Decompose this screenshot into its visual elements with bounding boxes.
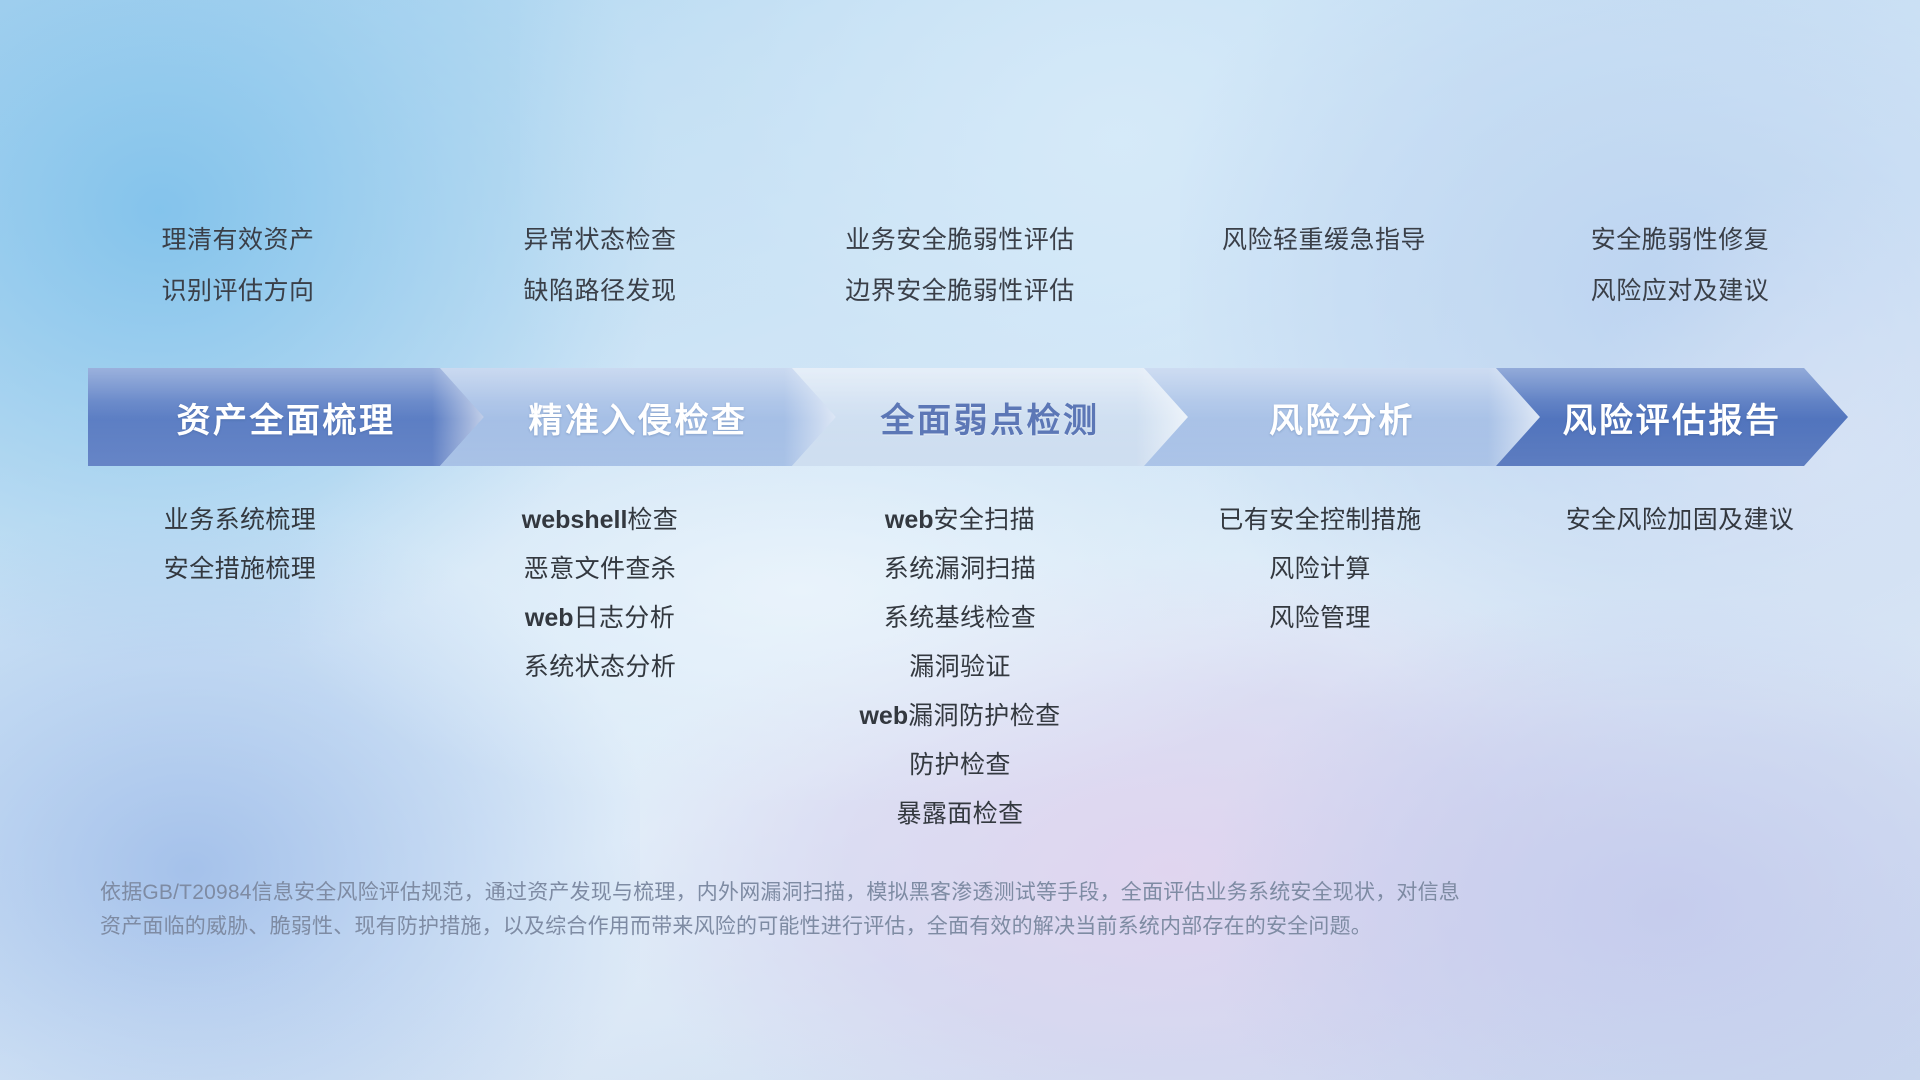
list-item: web日志分析	[525, 606, 675, 631]
stage-detail-lists: 业务系统梳理 安全措施梳理 webshell检查 恶意文件查杀 web日志分析 …	[60, 508, 1860, 851]
footer-line: 资产面临的威胁、脆弱性、现有防护措施，以及综合作用而带来风险的可能性进行评估，全…	[100, 910, 1660, 944]
latin-token: web	[859, 702, 908, 730]
top-note: 缺陷路径发现	[523, 279, 676, 304]
slide-canvas: 理清有效资产 识别评估方向 异常状态检查 缺陷路径发现 业务安全脆弱性评估 边界…	[0, 0, 1920, 1080]
top-notes-weakness-detection: 业务安全脆弱性评估 边界安全脆弱性评估	[780, 228, 1140, 304]
stage-title: 资产全面梳理	[177, 393, 396, 442]
list-item: 安全措施梳理	[164, 557, 316, 582]
top-notes-risk-analysis: 风险轻重缓急指导	[1140, 228, 1500, 304]
stage-title: 精准入侵检查	[529, 393, 748, 442]
detail-list-risk-report: 安全风险加固及建议	[1500, 508, 1860, 557]
top-note: 理清有效资产	[161, 228, 314, 253]
top-note: 风险轻重缓急指导	[1222, 228, 1426, 253]
stage-arrow-asset-inventory[interactable]: 资产全面梳理	[88, 368, 484, 466]
footer-line: 依据GB/T20984信息安全风险评估规范，通过资产发现与梳理，内外网漏洞扫描，…	[100, 876, 1660, 910]
list-item: 防护检查	[909, 753, 1011, 778]
list-item: 恶意文件查杀	[524, 557, 676, 582]
list-item: web漏洞防护检查	[859, 704, 1060, 729]
top-note: 异常状态检查	[523, 228, 676, 253]
top-notes-risk-report: 安全脆弱性修复 风险应对及建议	[1500, 228, 1860, 304]
footer-description: 依据GB/T20984信息安全风险评估规范，通过资产发现与梳理，内外网漏洞扫描，…	[100, 876, 1660, 944]
list-item: 系统漏洞扫描	[884, 557, 1036, 582]
top-notes-asset-inventory: 理清有效资产 识别评估方向	[60, 228, 420, 304]
list-item: 安全风险加固及建议	[1566, 508, 1795, 533]
stage-arrow-intrusion-check[interactable]: 精准入侵检查	[440, 368, 836, 466]
top-note: 风险应对及建议	[1591, 279, 1770, 304]
stage-arrow-weakness-detection[interactable]: 全面弱点检测	[792, 368, 1188, 466]
detail-list-risk-analysis: 已有安全控制措施 风险计算 风险管理	[1140, 508, 1500, 655]
list-item: 暴露面检查	[896, 802, 1023, 827]
list-item: 风险计算	[1269, 557, 1371, 582]
top-note: 业务安全脆弱性评估	[845, 228, 1075, 253]
list-item: 漏洞验证	[909, 655, 1011, 680]
latin-token: webshell	[522, 506, 628, 534]
top-note: 边界安全脆弱性评估	[845, 279, 1075, 304]
latin-token: web	[525, 604, 574, 632]
latin-token: web	[885, 506, 934, 534]
list-item: 系统状态分析	[524, 655, 676, 680]
stage-arrow-risk-analysis[interactable]: 风险分析	[1144, 368, 1540, 466]
stage-title: 全面弱点检测	[881, 393, 1100, 442]
list-item: 风险管理	[1269, 606, 1371, 631]
detail-list-weakness-detection: web安全扫描 系统漏洞扫描 系统基线检查 漏洞验证 web漏洞防护检查 防护检…	[780, 508, 1140, 851]
top-note: 安全脆弱性修复	[1591, 228, 1770, 253]
stage-title: 风险分析	[1269, 393, 1415, 442]
top-notes-intrusion-check: 异常状态检查 缺陷路径发现	[420, 228, 780, 304]
list-item: 业务系统梳理	[164, 508, 316, 533]
list-item: web安全扫描	[885, 508, 1035, 533]
list-item: 系统基线检查	[884, 606, 1036, 631]
list-item: 已有安全控制措施	[1218, 508, 1421, 533]
stage-title: 风险评估报告	[1563, 393, 1782, 442]
stage-arrow-risk-report[interactable]: 风险评估报告	[1496, 368, 1848, 466]
detail-list-intrusion-check: webshell检查 恶意文件查杀 web日志分析 系统状态分析	[420, 508, 780, 704]
process-arrow-banner: 资产全面梳理 精准入侵检查 全面弱点检测 风险分析 风险评估报告	[88, 368, 1848, 466]
top-note: 识别评估方向	[161, 279, 314, 304]
list-item: webshell检查	[522, 508, 678, 533]
top-notes-row: 理清有效资产 识别评估方向 异常状态检查 缺陷路径发现 业务安全脆弱性评估 边界…	[60, 228, 1860, 304]
detail-list-asset-inventory: 业务系统梳理 安全措施梳理	[60, 508, 420, 606]
